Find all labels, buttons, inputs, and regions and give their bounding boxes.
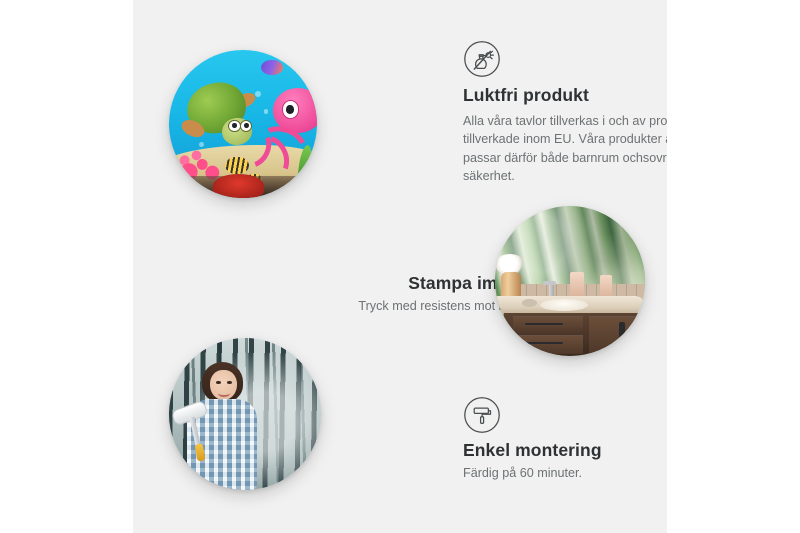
- underwater-kids-mural-bubble: [169, 50, 317, 198]
- cabinet-handle: [619, 322, 625, 342]
- feature-title: Enkel montering: [463, 440, 667, 461]
- sink-basin: [540, 299, 588, 311]
- soap-dish: [522, 299, 537, 307]
- striped-fish: [225, 157, 249, 175]
- no-odour-perfume-bottle-icon: [463, 40, 667, 78]
- bathroom-tropical-wallpaper-bubble: [495, 206, 645, 356]
- content-panel: Luktfri produkt Alla våra tavlor tillver…: [133, 0, 667, 533]
- octopus-eye: [282, 100, 299, 118]
- feature-block-easy-assembly: Enkel montering Färdig på 60 minuter.: [463, 396, 667, 482]
- paint-roller-icon: [463, 396, 667, 434]
- feature-body: Alla våra tavlor tillverkas i och av pro…: [463, 112, 667, 186]
- person-eye: [216, 381, 221, 384]
- pink-coral: [178, 139, 222, 180]
- feature-block-odourless: Luktfri produkt Alla våra tavlor tillver…: [463, 40, 667, 186]
- feature-title: Luktfri produkt: [463, 85, 667, 106]
- cabinet-drawer: [513, 335, 584, 354]
- woman-paint-roller-forest-bubble: [169, 338, 321, 490]
- wooden-vanity-cabinet: [504, 313, 645, 357]
- cabinet-handle: [525, 323, 563, 325]
- turtle-eye: [228, 120, 240, 132]
- cabinet-handle: [525, 342, 563, 344]
- red-foreground-object: [213, 174, 263, 198]
- purple-fish: [261, 60, 283, 75]
- person-smile: [218, 390, 230, 397]
- water-bubble-dot: [264, 109, 268, 113]
- feature-body: Färdig på 60 minuter.: [463, 464, 667, 482]
- person-eye: [227, 381, 232, 384]
- cabinet-drawer: [513, 316, 584, 334]
- cabinet-door: [589, 316, 645, 354]
- promo-banner: Luktfri produkt Alla våra tavlor tillver…: [0, 0, 800, 533]
